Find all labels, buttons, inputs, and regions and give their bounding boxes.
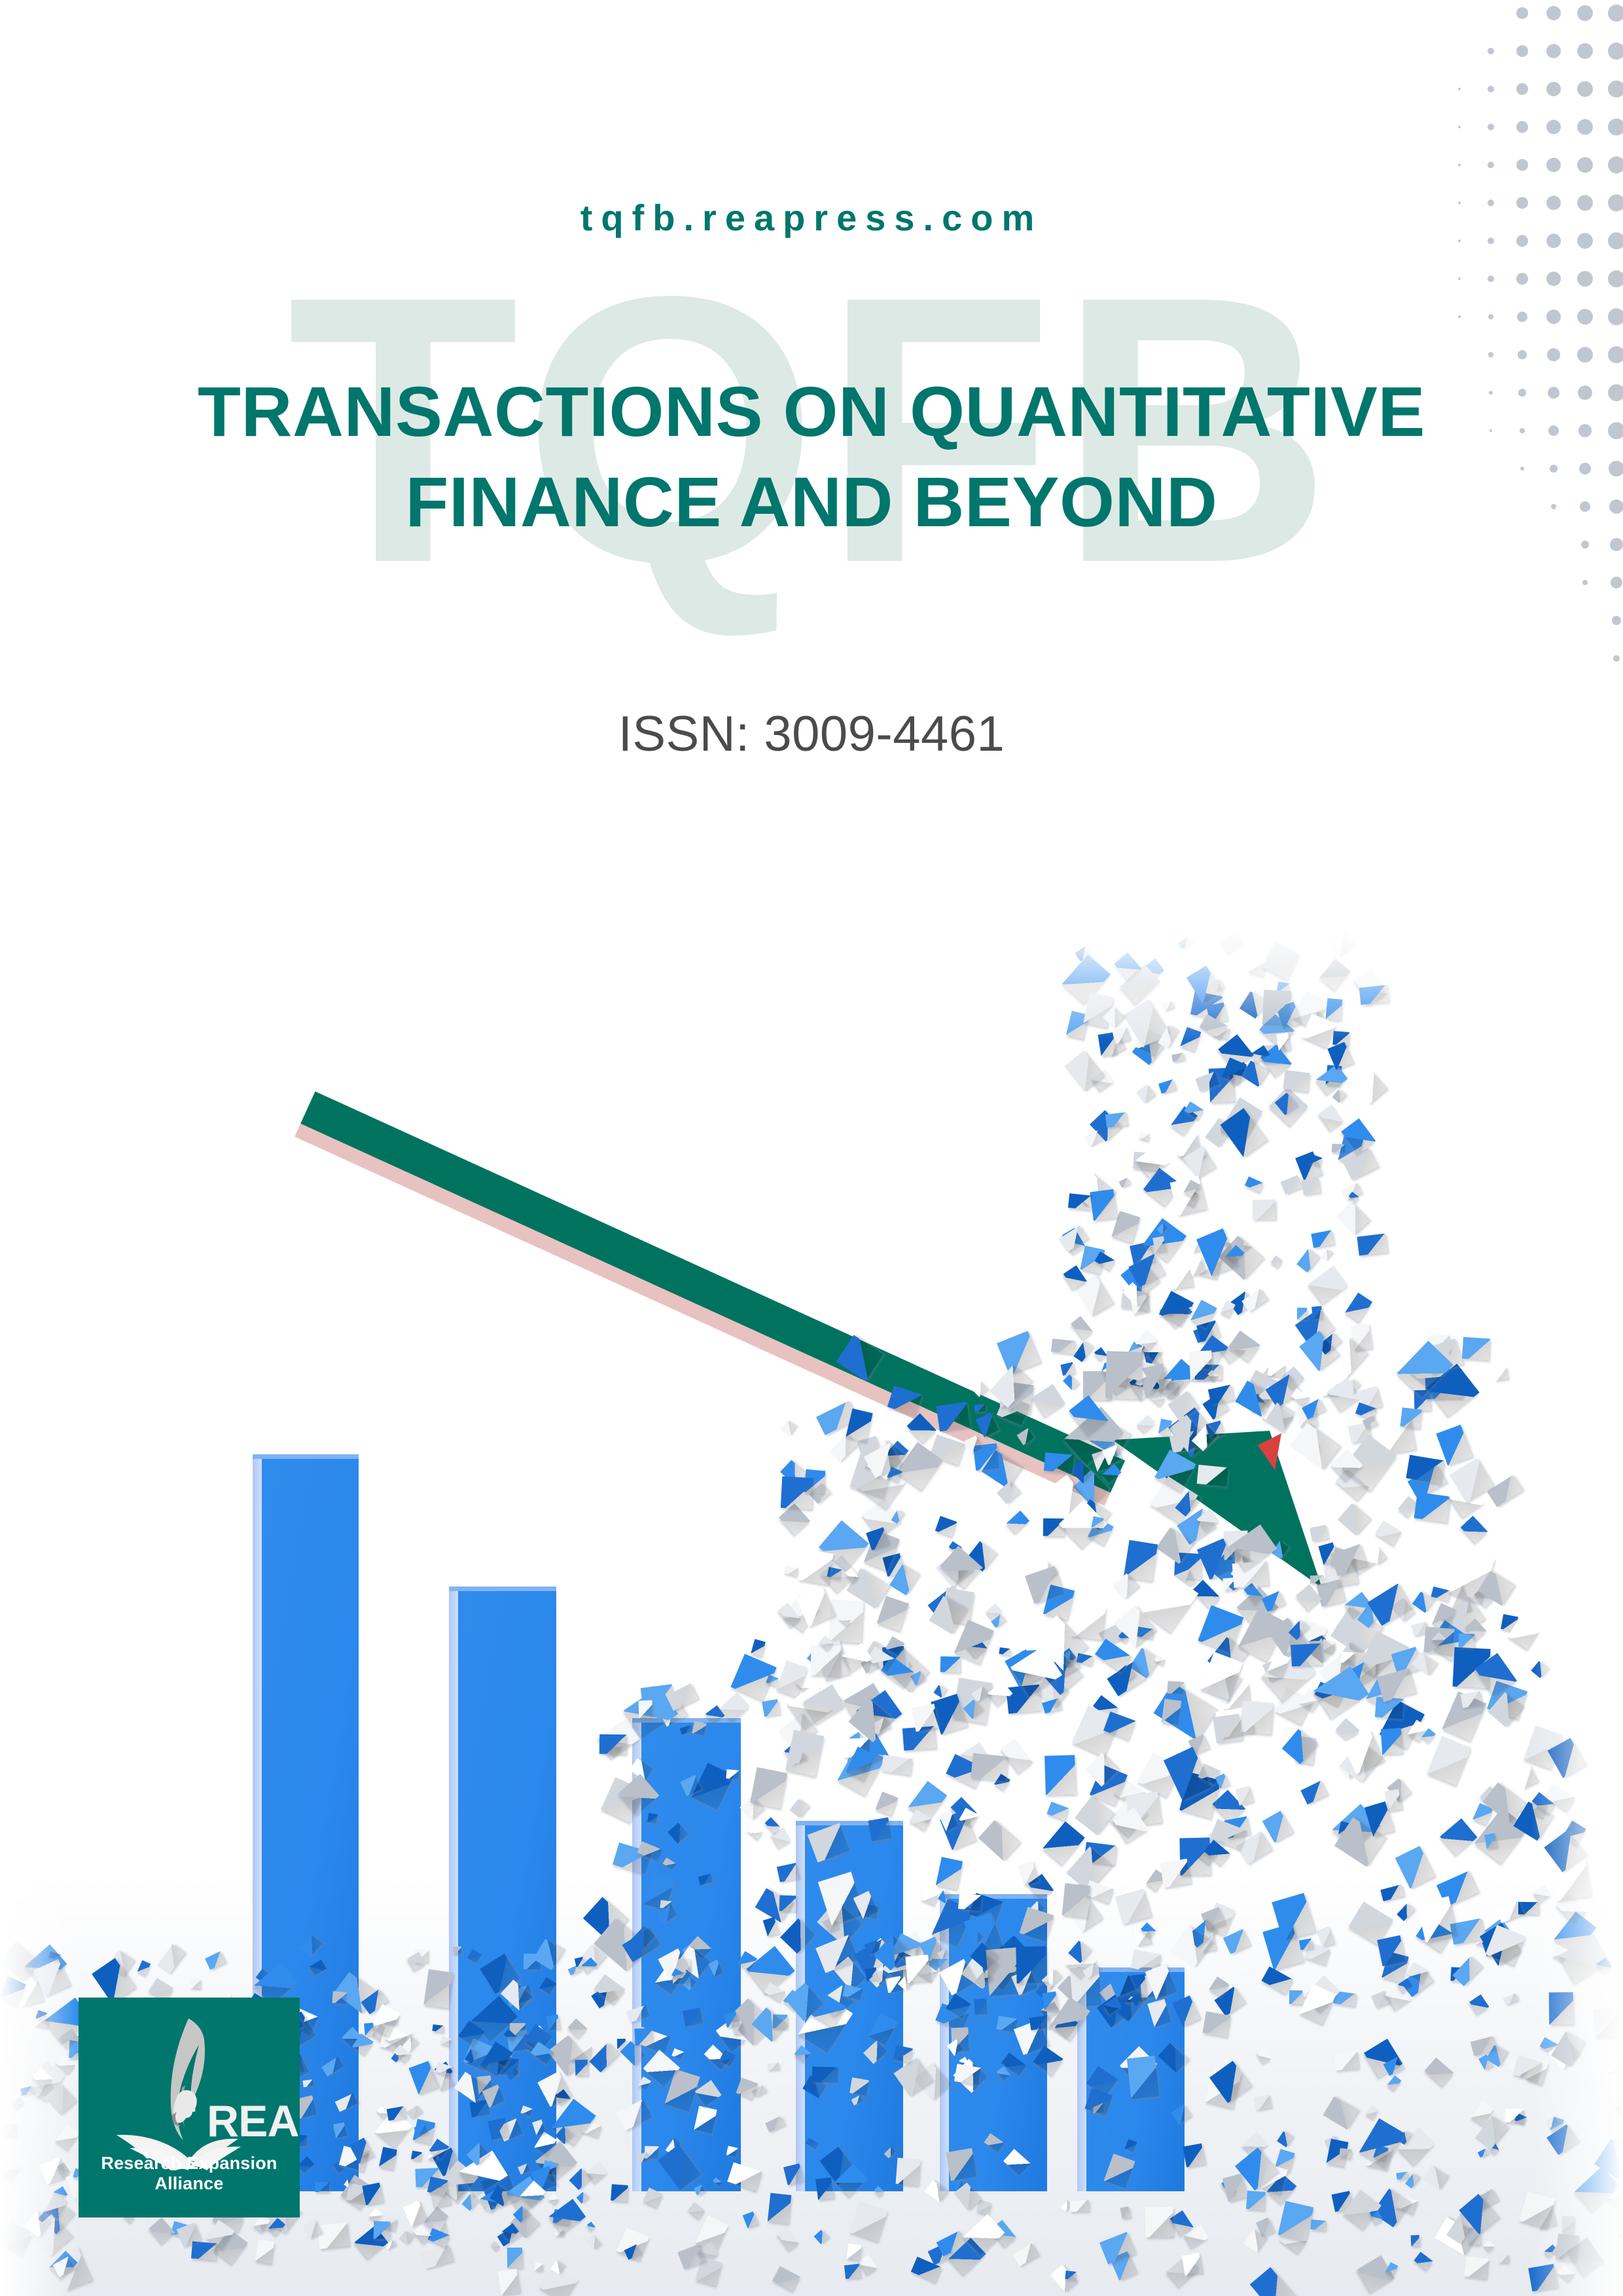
debris-cube — [781, 1421, 796, 1436]
debris-cube — [1487, 1475, 1523, 1507]
debris-cube — [1354, 1072, 1387, 1104]
debris-cube — [875, 1791, 897, 1815]
debris-cube — [1505, 2108, 1524, 2123]
debris-cube — [1414, 1492, 1450, 1523]
debris-cube — [844, 2264, 861, 2279]
debris-cube — [815, 2177, 834, 2199]
debris-cube — [191, 2242, 217, 2261]
debris-cube — [1071, 1604, 1106, 1640]
debris-cube — [1105, 1113, 1128, 1128]
debris-cube — [1094, 1347, 1107, 1361]
hero-right-fade — [1531, 929, 1623, 2296]
debris-cube — [784, 1565, 799, 1576]
debris-cube — [954, 1620, 994, 1664]
debris-cube — [781, 1477, 813, 1509]
debris-cube — [534, 2263, 543, 2272]
debris-cube — [762, 1699, 779, 1717]
debris-cube — [847, 2243, 861, 2259]
debris-cube — [1046, 1801, 1069, 1820]
debris-cube — [302, 2079, 313, 2087]
debris-cube — [1440, 1819, 1477, 1856]
debris-cube — [767, 2193, 791, 2223]
debris-cube — [1167, 1681, 1184, 1695]
debris-cube — [1254, 2094, 1272, 2109]
debris-cube — [1208, 1384, 1234, 1405]
debris-cube — [1044, 1755, 1076, 1795]
debris-cube — [849, 2077, 869, 2096]
debris-cube — [315, 2182, 329, 2192]
page-title: TRANSACTIONS ON QUANTITATIVE FINANCE AND… — [0, 367, 1623, 547]
debris-cube — [1136, 1085, 1154, 1103]
debris-cube — [1340, 2148, 1353, 2159]
hero-top-fade — [0, 929, 1623, 1041]
debris-cube — [751, 1767, 788, 1808]
debris-cube — [868, 1817, 892, 1841]
debris-cube — [1332, 1089, 1346, 1102]
debris-cube — [1345, 1293, 1372, 1322]
debris-cube — [812, 2067, 839, 2083]
debris-cube — [1464, 2256, 1488, 2279]
debris-cube — [974, 1998, 988, 2015]
debris-cube — [1183, 2143, 1205, 2167]
debris-cube — [1065, 2270, 1077, 2280]
debris-cube — [865, 1967, 878, 1982]
debris-cube — [1160, 1859, 1191, 1888]
debris-cube — [1267, 1363, 1285, 1378]
journal-website-url: tqfb.reapress.com — [0, 196, 1623, 239]
debris-cube — [877, 1596, 909, 1631]
debris-cube — [882, 1755, 913, 1775]
debris-cube — [726, 1769, 739, 1779]
debris-cube — [1493, 1367, 1508, 1381]
debris-cube — [912, 1704, 939, 1732]
debris-cube — [1246, 2191, 1266, 2210]
debris-cube — [1400, 1407, 1422, 1428]
debris-cube — [1310, 1525, 1329, 1542]
debris-cube — [497, 2269, 520, 2295]
debris-cube — [575, 2060, 588, 2075]
debris-cube — [1291, 1643, 1322, 1666]
debris-cube — [768, 2062, 779, 2070]
debris-cube — [1321, 1249, 1332, 1261]
debris-cube — [1334, 2051, 1359, 2070]
downward-trend-arrow-shaft — [300, 1092, 1125, 1494]
debris-cube — [1189, 1351, 1213, 1381]
debris-cube — [639, 1700, 653, 1719]
debris-cube — [1159, 1291, 1194, 1326]
debris-cube — [1145, 2207, 1173, 2238]
debris-cube — [1042, 1991, 1058, 2009]
hero-left-fade — [0, 929, 79, 2296]
debris-cube — [1332, 1143, 1346, 1153]
debris-cube — [798, 1549, 834, 1585]
debris-cube — [1262, 1811, 1293, 1843]
debris-cube — [364, 2023, 374, 2036]
debris-cube — [935, 1516, 957, 1537]
debris-cube — [1213, 1714, 1242, 1744]
debris-cube — [1316, 1064, 1348, 1094]
debris-cube — [1071, 1316, 1093, 1339]
debris-cube — [1016, 1946, 1046, 1983]
debris-cube — [1381, 1728, 1403, 1755]
debris-cube — [1062, 1883, 1090, 1918]
debris-cube — [423, 1969, 453, 2008]
debris-cube — [810, 1645, 841, 1676]
debris-cube — [1252, 1199, 1275, 1219]
debris-cube — [1051, 1338, 1076, 1354]
journal-cover: TQFB tqfb.reapress.com TRANSACTIONS ON Q… — [0, 0, 1623, 2296]
debris-cube — [1158, 1079, 1176, 1094]
debris-cube — [1090, 1189, 1116, 1221]
debris-cube — [1240, 1701, 1273, 1734]
debris-cube — [747, 1824, 762, 1839]
debris-cube — [971, 1753, 1008, 1782]
debris-cube — [958, 1893, 982, 1910]
logo-acronym: REA — [207, 2096, 299, 2147]
rea-publisher-logo: REA Research Expansion Alliance — [79, 1998, 300, 2217]
debris-cube — [1168, 1268, 1194, 1290]
debris-cube — [997, 1331, 1041, 1375]
debris-cube — [1161, 1698, 1181, 1725]
debris-cube — [933, 1685, 946, 1698]
debris-cube — [1377, 1935, 1405, 1967]
debris-cube — [1074, 1341, 1094, 1363]
debris-cube — [1301, 1177, 1320, 1195]
debris-cube — [1397, 2171, 1410, 2179]
debris-cube — [751, 1639, 765, 1657]
debris-cube — [1007, 1511, 1029, 1534]
issn-text: ISSN: 3009-4461 — [0, 706, 1623, 762]
debris-cube — [1310, 2219, 1326, 2231]
debris-cube — [1318, 1105, 1344, 1132]
debris-cube — [611, 2184, 628, 2202]
debris-cube — [1197, 1465, 1228, 1486]
debris-cube — [946, 2148, 976, 2181]
debris-cube — [1032, 1384, 1065, 1416]
debris-cube — [1436, 1424, 1472, 1465]
debris-cube — [1461, 1516, 1488, 1543]
debris-cube — [1280, 1175, 1302, 1194]
debris-cube — [978, 1820, 1019, 1861]
debris-cube — [1310, 1575, 1323, 1584]
title-line-1: TRANSACTIONS ON QUANTITATIVE — [0, 367, 1623, 457]
debris-cube — [779, 1895, 795, 1911]
debris-cube — [790, 1799, 810, 1818]
debris-cube — [546, 2015, 560, 2030]
debris-cube — [1270, 1255, 1283, 1268]
debris-cube — [1427, 1736, 1471, 1785]
debris-cube — [411, 2151, 422, 2161]
debris-cube — [1203, 2011, 1231, 2037]
debris-cube — [1060, 1362, 1075, 1376]
debris-cube — [1336, 1202, 1369, 1236]
debris-cube — [255, 2239, 275, 2263]
debris-cube — [1311, 1230, 1334, 1248]
debris-cube — [317, 2223, 349, 2249]
debris-cube — [1070, 2200, 1090, 2212]
debris-cube — [507, 2248, 522, 2268]
title-line-2: FINANCE AND BEYOND — [0, 457, 1623, 547]
debris-cube — [974, 1405, 985, 1412]
debris-cube — [1312, 1306, 1323, 1319]
debris-cube — [453, 1946, 461, 1954]
debris-cube — [362, 2182, 383, 2205]
debris-cube — [1245, 1176, 1264, 1192]
debris-cube — [373, 2221, 390, 2239]
debris-cube — [1289, 1990, 1302, 2004]
debris-cube — [1068, 1193, 1092, 1210]
debris-cube — [1308, 1265, 1348, 1304]
debris-cube — [1410, 2234, 1419, 2246]
debris-cube — [1119, 1177, 1130, 1187]
debris-cube — [905, 1955, 930, 1983]
debris-cube — [936, 1401, 970, 1431]
debris-cube — [1126, 2056, 1158, 2099]
debris-cube — [1462, 1337, 1490, 1361]
debris-cube — [1171, 1052, 1185, 1062]
debris-cube — [190, 1978, 200, 1988]
debris-cube — [999, 1647, 1012, 1655]
debris-cube — [1341, 1651, 1355, 1663]
debris-cube — [1412, 1592, 1434, 1613]
debris-cube — [1044, 1452, 1074, 1473]
debris-cube — [647, 1813, 658, 1824]
debris-cube — [1105, 1351, 1142, 1399]
debris-cube — [1063, 1374, 1079, 1390]
debris-cube — [940, 1656, 961, 1672]
debris-cube — [895, 2158, 920, 2185]
debris-cube — [1300, 1781, 1327, 1805]
debris-cube — [1357, 1234, 1388, 1256]
debris-cube — [599, 1734, 626, 1753]
debris-cube — [1296, 1249, 1319, 1273]
logo-subtitle: Research Expansion Alliance — [79, 2153, 300, 2194]
debris-cube — [1139, 1132, 1150, 1140]
debris-cube — [1152, 1236, 1166, 1253]
debris-cube — [332, 1991, 347, 2004]
debris-cube — [635, 2028, 653, 2047]
debris-cube — [1182, 2253, 1202, 2276]
debris-cube — [1283, 1070, 1310, 1092]
debris-cube — [1297, 1308, 1307, 1319]
debris-cube — [1170, 1175, 1207, 1215]
debris-cube — [683, 2008, 703, 2027]
debris-cube — [432, 2024, 444, 2032]
debris-cube — [1498, 2254, 1508, 2262]
